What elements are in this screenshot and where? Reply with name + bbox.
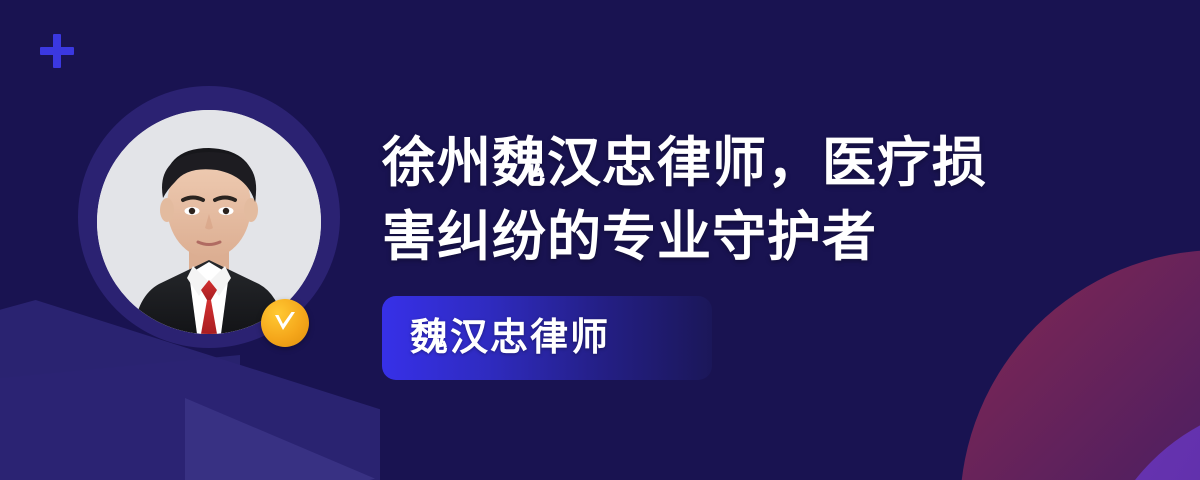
avatar <box>78 86 340 386</box>
lawyer-name-label: 魏汉忠律师 <box>410 319 610 357</box>
plus-icon <box>40 34 74 68</box>
decorative-circle-right-secondary <box>1090 400 1200 480</box>
headline-line-1: 徐州魏汉忠律师，医疗损 <box>382 126 1102 200</box>
verified-v-icon <box>272 311 298 335</box>
decorative-triangle-center <box>185 398 375 480</box>
lawyer-promo-banner: 徐州魏汉忠律师，医疗损 害纠纷的专业守护者 魏汉忠律师 <box>0 0 1200 480</box>
lawyer-name-button[interactable]: 魏汉忠律师 <box>382 296 712 380</box>
decorative-circle-right <box>960 250 1200 480</box>
headline-line-2: 害纠纷的专业守护者 <box>382 200 1102 274</box>
page-title: 徐州魏汉忠律师，医疗损 害纠纷的专业守护者 <box>382 126 1102 274</box>
verified-badge <box>261 299 309 347</box>
